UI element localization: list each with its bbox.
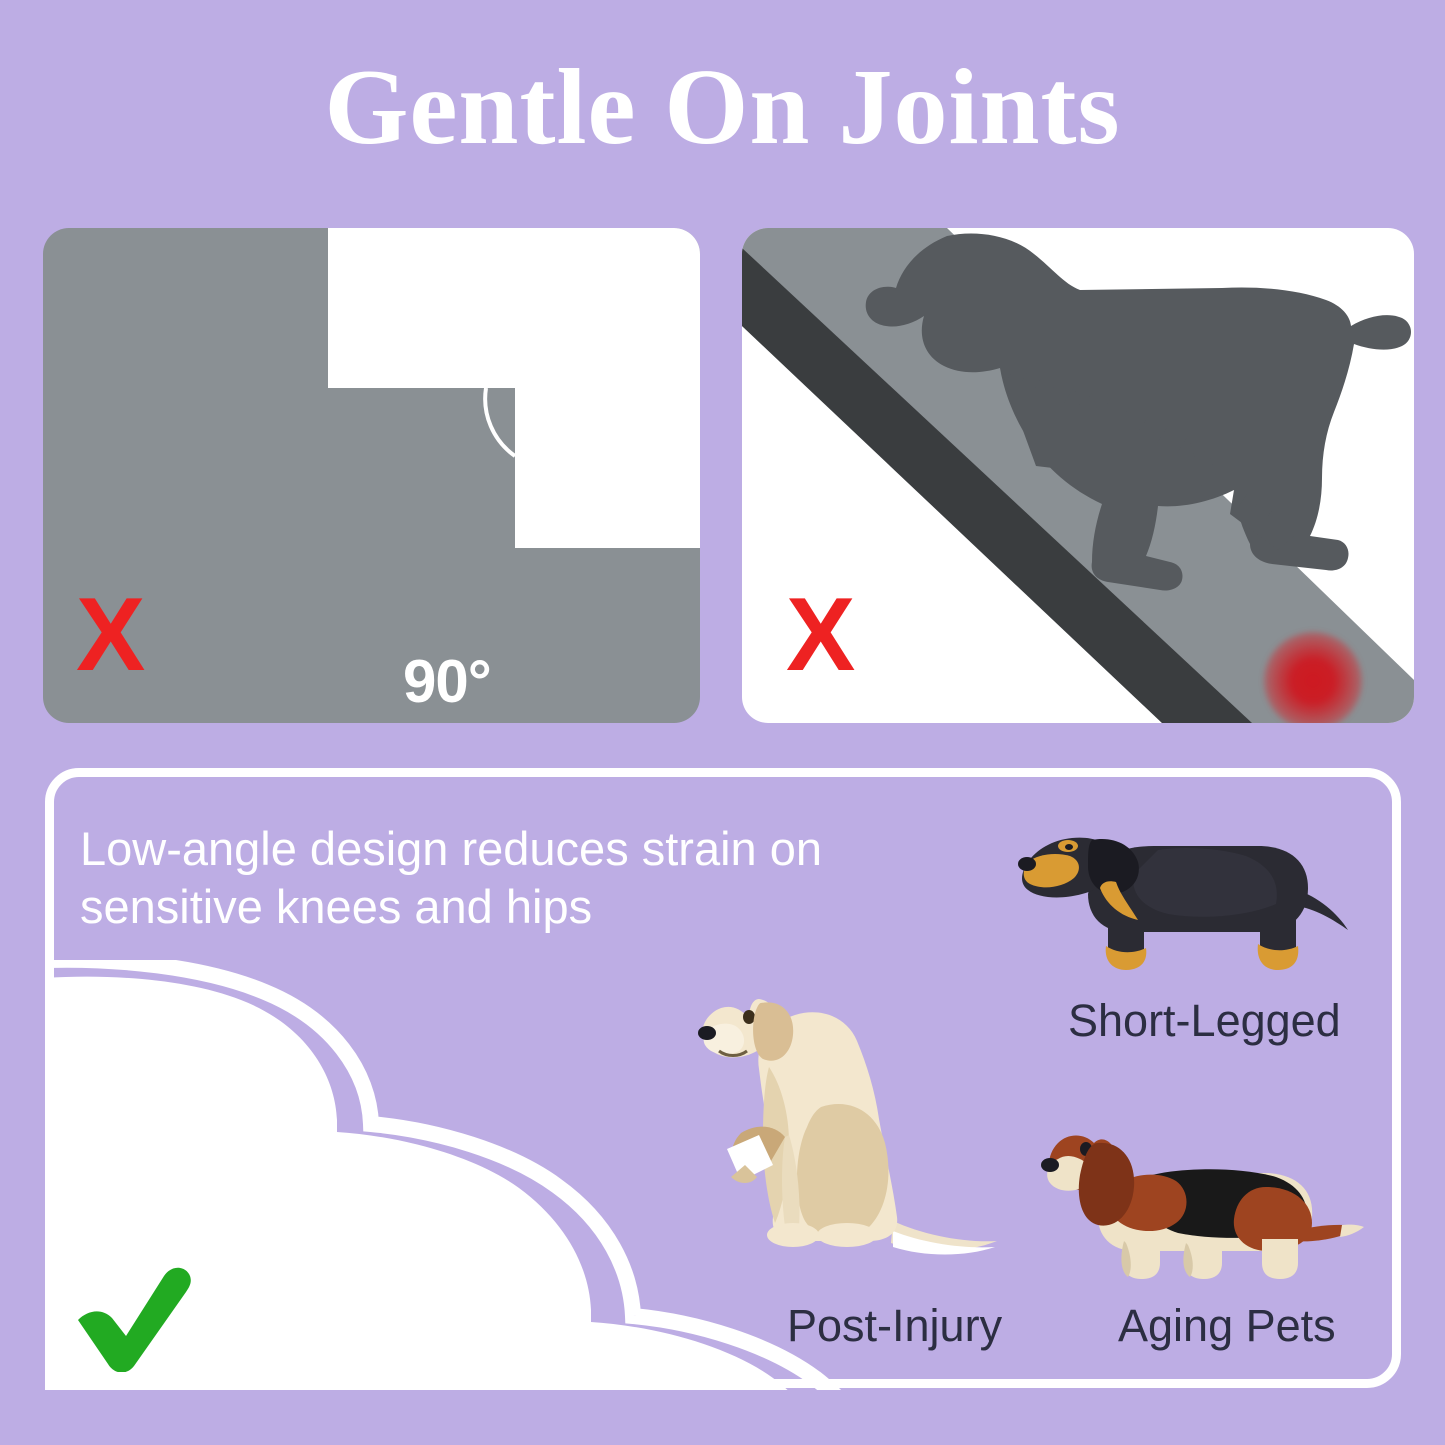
cross-icon-step: X [76, 583, 145, 687]
check-icon [72, 1262, 192, 1372]
dachshund-illustration [1008, 820, 1348, 985]
infographic-root: Gentle On Joints 90° X [0, 0, 1445, 1445]
basset-hound-illustration [1036, 1125, 1366, 1285]
pain-point-indicator [1264, 632, 1362, 723]
angle-label: 90° [403, 652, 491, 712]
page-title: Gentle On Joints [0, 52, 1445, 164]
golden-retriever-illustration [697, 985, 997, 1285]
pet-type-label-short-legged: Short-Legged [1068, 995, 1341, 1047]
pet-type-label-aging-pets: Aging Pets [1118, 1300, 1336, 1352]
benefit-text: Low-angle design reduces strain on sensi… [80, 820, 870, 936]
cross-icon-ramp: X [786, 583, 855, 687]
pet-type-label-post-injury: Post-Injury [787, 1300, 1002, 1352]
